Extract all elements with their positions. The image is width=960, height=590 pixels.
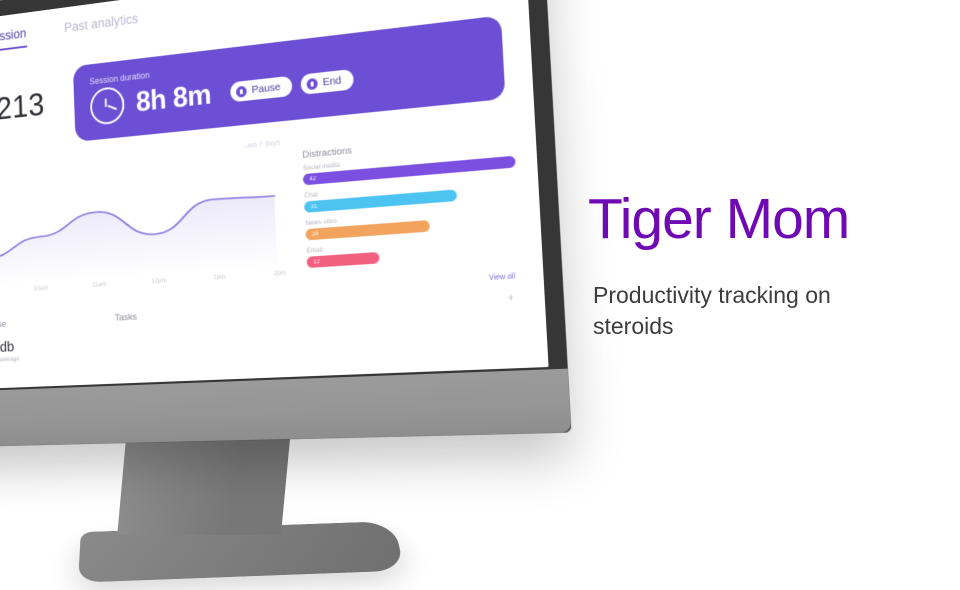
stop-icon bbox=[307, 77, 318, 89]
distraction-bar-item[interactable]: News sites24 bbox=[305, 204, 512, 240]
distraction-bar-value: 24 bbox=[312, 231, 319, 238]
ambient-noise-value: 10 db bbox=[0, 338, 19, 356]
tab-past-analytics[interactable]: Past analytics bbox=[64, 11, 139, 42]
distraction-bar-value: 31 bbox=[311, 203, 318, 210]
page-subtitle: Productivity tracking on steroids bbox=[593, 280, 893, 341]
end-button[interactable]: End bbox=[301, 69, 354, 95]
tab-current-session[interactable]: Current session bbox=[0, 26, 27, 58]
efficiency-chart-panel: Efficiency Last 7 days 100%75%50%25%0 bbox=[0, 152, 286, 298]
tasks-view-all-link[interactable]: View all bbox=[489, 273, 515, 282]
screen-content: Current session Past analytics Course CS… bbox=[0, 0, 549, 392]
hero-text-block: Tiger Mom Productivity tracking on stero… bbox=[588, 190, 948, 341]
page-title: Tiger Mom bbox=[588, 190, 948, 248]
distraction-bar: 42 bbox=[303, 156, 515, 186]
distraction-bar-label: Email bbox=[307, 233, 514, 254]
session-duration-card: Session duration 8h 8m Pause bbox=[73, 15, 505, 142]
session-duration-label: Session duration bbox=[89, 31, 483, 86]
tab-bar: Current session Past analytics bbox=[0, 0, 499, 57]
chart-x-tick: 11am bbox=[92, 281, 106, 289]
ambient-noise-caption: Below average bbox=[0, 356, 19, 364]
course-value: CS 213 bbox=[0, 86, 45, 132]
app-window: Current session Past analytics Course CS… bbox=[0, 0, 549, 392]
tab-past-analytics-label: Past analytics bbox=[64, 11, 138, 35]
monitor-screen-assembly: Current session Past analytics Course CS… bbox=[0, 0, 571, 448]
distraction-bar-label: Chat bbox=[304, 175, 510, 199]
app-main: Current session Past analytics Course CS… bbox=[0, 0, 549, 391]
monitor-mockup: Current session Past analytics Course CS… bbox=[0, 0, 610, 590]
plus-icon[interactable]: + bbox=[507, 293, 514, 305]
distraction-bar-label: Social media bbox=[303, 147, 509, 172]
distraction-bar-list: Social media42Chat31News sites24Email12 bbox=[303, 147, 514, 268]
session-time-value: 8h 8m bbox=[135, 78, 211, 118]
chart-x-tick: 1pm bbox=[213, 273, 225, 281]
session-duration-row: 8h 8m Pause End bbox=[90, 45, 486, 126]
ambient-noise-title: Ambient noise bbox=[0, 315, 85, 333]
distractions-title: Distractions bbox=[302, 131, 508, 161]
distractions-panel: Distractions Social media42Chat31News si… bbox=[302, 131, 514, 276]
distraction-bar-item[interactable]: Email12 bbox=[307, 233, 514, 268]
distraction-bar-label: News sites bbox=[305, 204, 511, 227]
efficiency-range-label: Last 7 days bbox=[243, 138, 280, 151]
end-button-label: End bbox=[322, 74, 341, 88]
pause-button-label: Pause bbox=[252, 81, 281, 96]
chart-x-tick: 12pm bbox=[151, 277, 166, 285]
ambient-noise-panel: Ambient noise 🔈 10 db Below average bbox=[0, 315, 86, 366]
session-controls: Pause End bbox=[230, 69, 353, 102]
analytics-row: Efficiency Last 7 days 100%75%50%25%0 bbox=[0, 131, 514, 298]
distraction-bar-value: 42 bbox=[309, 176, 316, 183]
tab-current-session-label: Current session bbox=[0, 26, 26, 50]
clock-icon bbox=[90, 86, 125, 126]
chart-x-tick: 2pm bbox=[273, 269, 286, 277]
distraction-bar-item[interactable]: Chat31 bbox=[304, 175, 511, 212]
distraction-bar-value: 12 bbox=[313, 258, 320, 265]
bottom-row: Ambient noise 🔈 10 db Below average Task… bbox=[0, 290, 518, 365]
chart-line-svg bbox=[0, 173, 286, 286]
chart-x-tick: 10am bbox=[34, 285, 48, 293]
distraction-bar-item[interactable]: Social media42 bbox=[303, 147, 509, 186]
course-block: Course CS 213 bbox=[0, 70, 45, 132]
ambient-noise-row: 🔈 10 db Below average bbox=[0, 335, 86, 365]
distraction-bar: 31 bbox=[304, 189, 457, 212]
tasks-panel: Tasks View all + bbox=[115, 290, 519, 358]
tasks-title: Tasks bbox=[115, 290, 517, 323]
chart-plot bbox=[0, 173, 286, 286]
ambient-noise-readout: 10 db Below average bbox=[0, 338, 19, 364]
